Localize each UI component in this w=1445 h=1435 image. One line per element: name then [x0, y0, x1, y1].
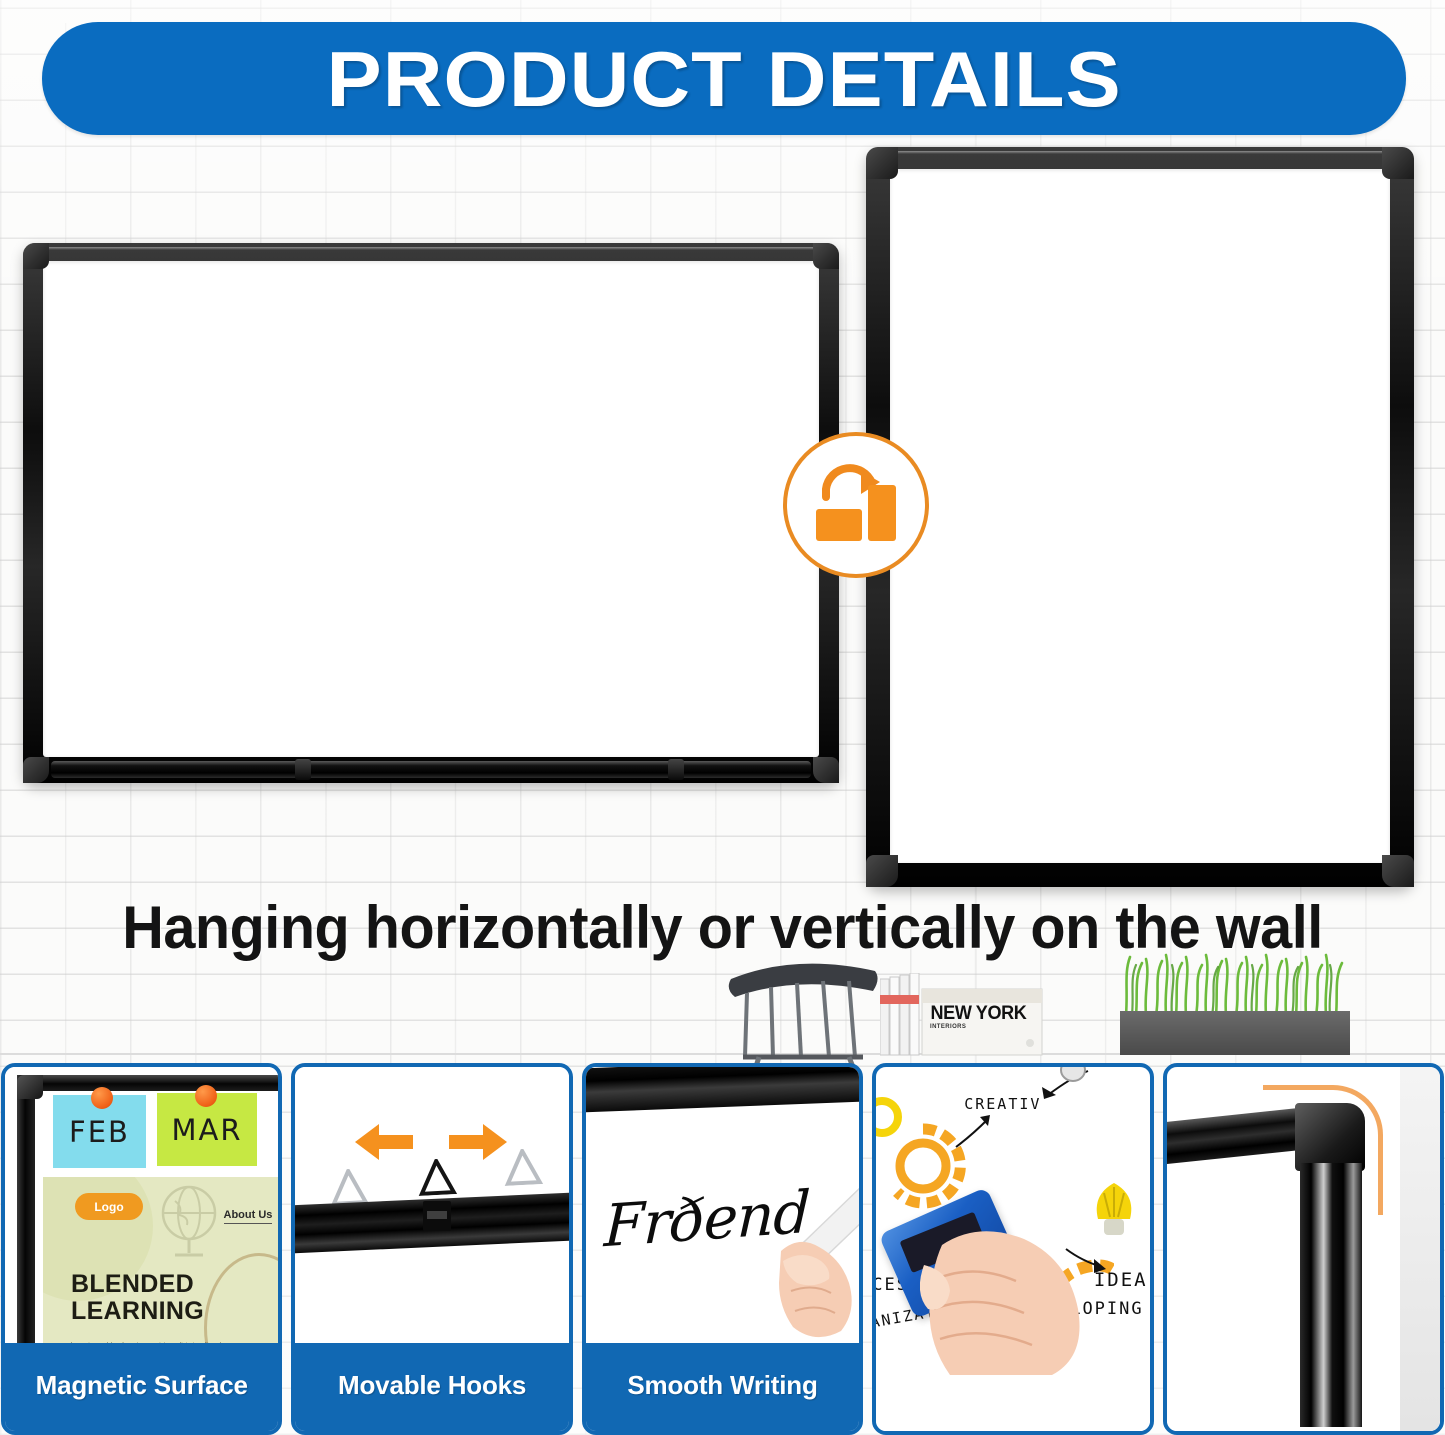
- grass-planter: [1120, 955, 1350, 1055]
- whiteboard-horizontal: [23, 243, 839, 783]
- hook-triangle: [328, 1168, 370, 1206]
- feature-panel-wipes-easily[interactable]: CREATIV IDEA LOPING CESS ANIZATI: [872, 1063, 1153, 1435]
- rail-hook-clip: [668, 759, 684, 780]
- poster-swoosh: [204, 1253, 278, 1343]
- background-wall-strip: [1400, 1067, 1440, 1431]
- rotate-orientation-glyph: [804, 453, 908, 557]
- wipes-easily-icon: CREATIV IDEA LOPING CESS ANIZATI: [876, 1067, 1149, 1431]
- mini-frame-left: [17, 1075, 35, 1343]
- globe-icon: [153, 1183, 225, 1263]
- hook-clip-center: [415, 1175, 459, 1235]
- panel-label-movable-hooks: Movable Hooks: [295, 1343, 568, 1431]
- arrow-left-icon: [353, 1121, 415, 1163]
- arrow-right-icon: [447, 1121, 509, 1163]
- poster-body-text: Lorem ipsum dolor sit amet, consectetuer…: [71, 1341, 221, 1343]
- poster-heading-line1: BLENDED: [71, 1271, 204, 1298]
- mini-frame-top: [17, 1075, 278, 1091]
- frame-side-rail: [1300, 1163, 1362, 1427]
- panel-label-magnetic-surface: Magnetic Surface: [5, 1343, 278, 1431]
- whiteboard-vertical: [866, 147, 1414, 887]
- arrow-doodle: [954, 1113, 994, 1149]
- grass-blades: [1120, 953, 1350, 1015]
- feature-panels: FEB MAR Logo: [0, 1063, 1445, 1435]
- corner-cap-bottom-left: [866, 855, 898, 887]
- feature-panel-rounded-corner[interactable]: Rounded Corner Design: [1163, 1063, 1444, 1435]
- hand-holding-eraser: [920, 1205, 1100, 1375]
- poster: Logo About Us BLENDED LEARNING Lorem ips…: [43, 1177, 278, 1343]
- board-frame-top: [586, 1067, 859, 1113]
- corner-cap-bottom-right: [1382, 855, 1414, 887]
- corner-cap-bottom-right: [813, 757, 839, 783]
- bottom-hanging-rail: [51, 761, 811, 778]
- whiteboard-surface: [890, 169, 1390, 863]
- product-details-banner: PRODUCT DETAILS: [42, 22, 1406, 135]
- magnetic-whiteboard-icon: FEB MAR Logo: [5, 1067, 278, 1343]
- corner-cap-bottom-left: [23, 757, 49, 783]
- magnet-dot-orange: [195, 1085, 217, 1107]
- whiteboard-surface: [43, 261, 819, 757]
- book-title: NEW YORK: [931, 1003, 1027, 1025]
- chair-silhouette: [725, 957, 885, 1077]
- book-subtitle: INTERIORS: [930, 1024, 966, 1030]
- planter-box: [1120, 1011, 1350, 1055]
- smooth-writing-icon: Frðend: [586, 1067, 859, 1343]
- feature-panel-magnetic-surface[interactable]: FEB MAR Logo: [1, 1063, 282, 1435]
- poster-heading-line2: LEARNING: [71, 1298, 204, 1325]
- corner-cap-top-right: [813, 243, 839, 269]
- rounded-corner-icon: [1167, 1067, 1440, 1431]
- rotate-orientation-icon: [783, 432, 929, 578]
- gear-icon-small: [876, 1095, 904, 1139]
- rail-hook-clip: [295, 759, 311, 780]
- corner-cap-top-left: [866, 147, 898, 179]
- eraser-doodle-dot: [1058, 1067, 1088, 1085]
- banner-title: PRODUCT DETAILS: [326, 40, 1121, 118]
- frame-corner-joint: [1295, 1103, 1365, 1171]
- poster-heading: BLENDED LEARNING: [71, 1271, 204, 1325]
- movable-hooks-icon: [295, 1067, 568, 1343]
- feature-panel-smooth-writing[interactable]: Frðend Smooth Writing: [582, 1063, 863, 1435]
- doodle-creativ: CREATIV: [964, 1095, 1041, 1113]
- mini-whiteboard: FEB MAR Logo: [5, 1067, 278, 1343]
- hand-holding-marker: [745, 1179, 859, 1339]
- hero-caption: Hanging horizontally or vertically on th…: [29, 893, 1416, 962]
- feature-panel-movable-hooks[interactable]: Movable Hooks: [291, 1063, 572, 1435]
- stacked-books: NEW YORK INTERIORS: [880, 973, 1045, 1053]
- mini-corner-cap: [17, 1075, 43, 1099]
- magnet-dot-orange: [91, 1087, 113, 1109]
- poster-about-link: About Us: [224, 1209, 273, 1224]
- panel-label-smooth-writing: Smooth Writing: [586, 1343, 859, 1431]
- poster-logo: Logo: [75, 1193, 143, 1220]
- corner-cap-top-left: [23, 243, 49, 269]
- corner-cap-top-right: [1382, 147, 1414, 179]
